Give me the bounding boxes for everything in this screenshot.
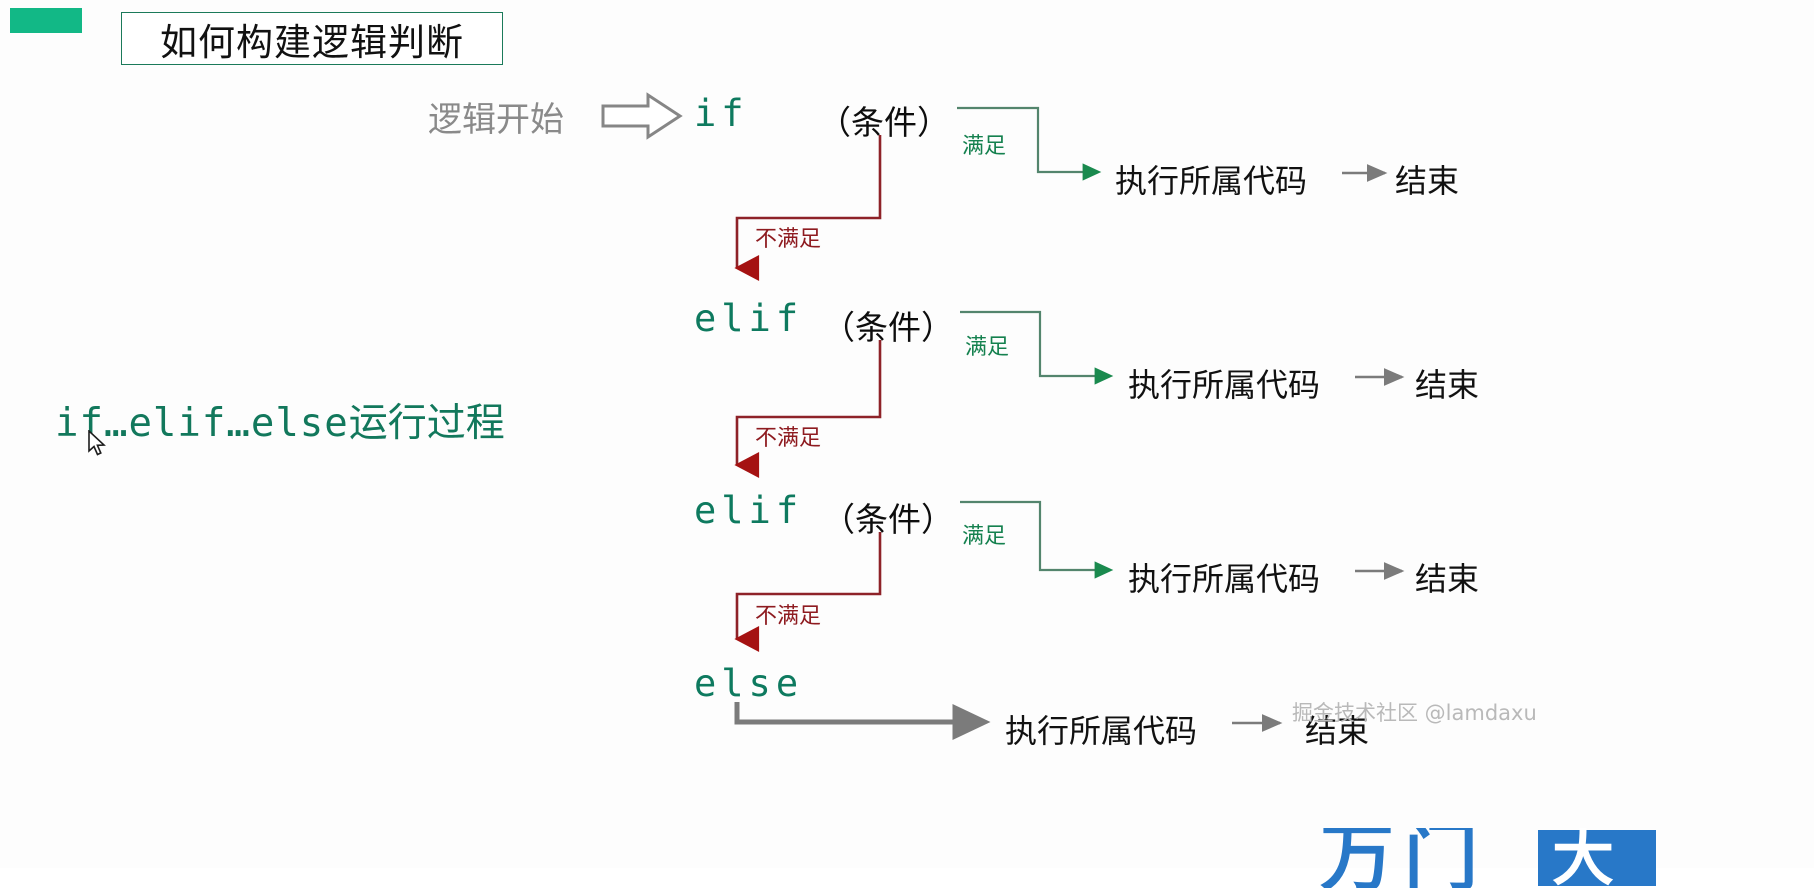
watermark: 掘金技术社区 @lamdaxu [1292,697,1537,727]
end-2: 结束 [1415,360,1479,406]
page-title-box: 如何构建逻辑判断 [121,12,503,65]
keyword-if: if [694,92,749,135]
run-code-2: 执行所属代码 [1128,360,1320,406]
mouse-cursor-icon [88,430,108,463]
condition-if: （条件） [818,96,950,144]
keyword-elif-1: elif [694,297,803,340]
run-code-4: 执行所属代码 [1005,706,1197,752]
keyword-else: else [694,662,803,705]
page-title: 如何构建逻辑判断 [160,12,464,66]
condition-elif-2: （条件） [822,493,954,541]
keyword-elif-2: elif [694,489,803,532]
label-yes-3: 满足 [962,518,1006,550]
label-no-3: 不满足 [755,598,821,630]
label-no-1: 不满足 [755,221,821,253]
left-caption: if…elif…else运行过程 [55,392,505,448]
label-no-2: 不满足 [755,420,821,452]
brand-logo: 万门 大 [1320,828,1720,888]
end-3: 结束 [1415,554,1479,600]
brand-logo-suffix: 大 [1552,828,1614,888]
condition-elif-1: （条件） [822,301,954,349]
brand-logo-text: 万门 [1320,828,1488,888]
label-yes-1: 满足 [962,128,1006,160]
else-branch [737,702,985,722]
logic-start-label: 逻辑开始 [428,92,564,141]
run-code-1: 执行所属代码 [1115,156,1307,202]
label-yes-2: 满足 [965,329,1009,361]
header-accent-chip [10,8,82,33]
end-1: 结束 [1395,156,1459,202]
block-arrow-right-icon [600,92,684,145]
left-caption-cn: 运行过程 [349,401,505,446]
run-code-3: 执行所属代码 [1128,554,1320,600]
